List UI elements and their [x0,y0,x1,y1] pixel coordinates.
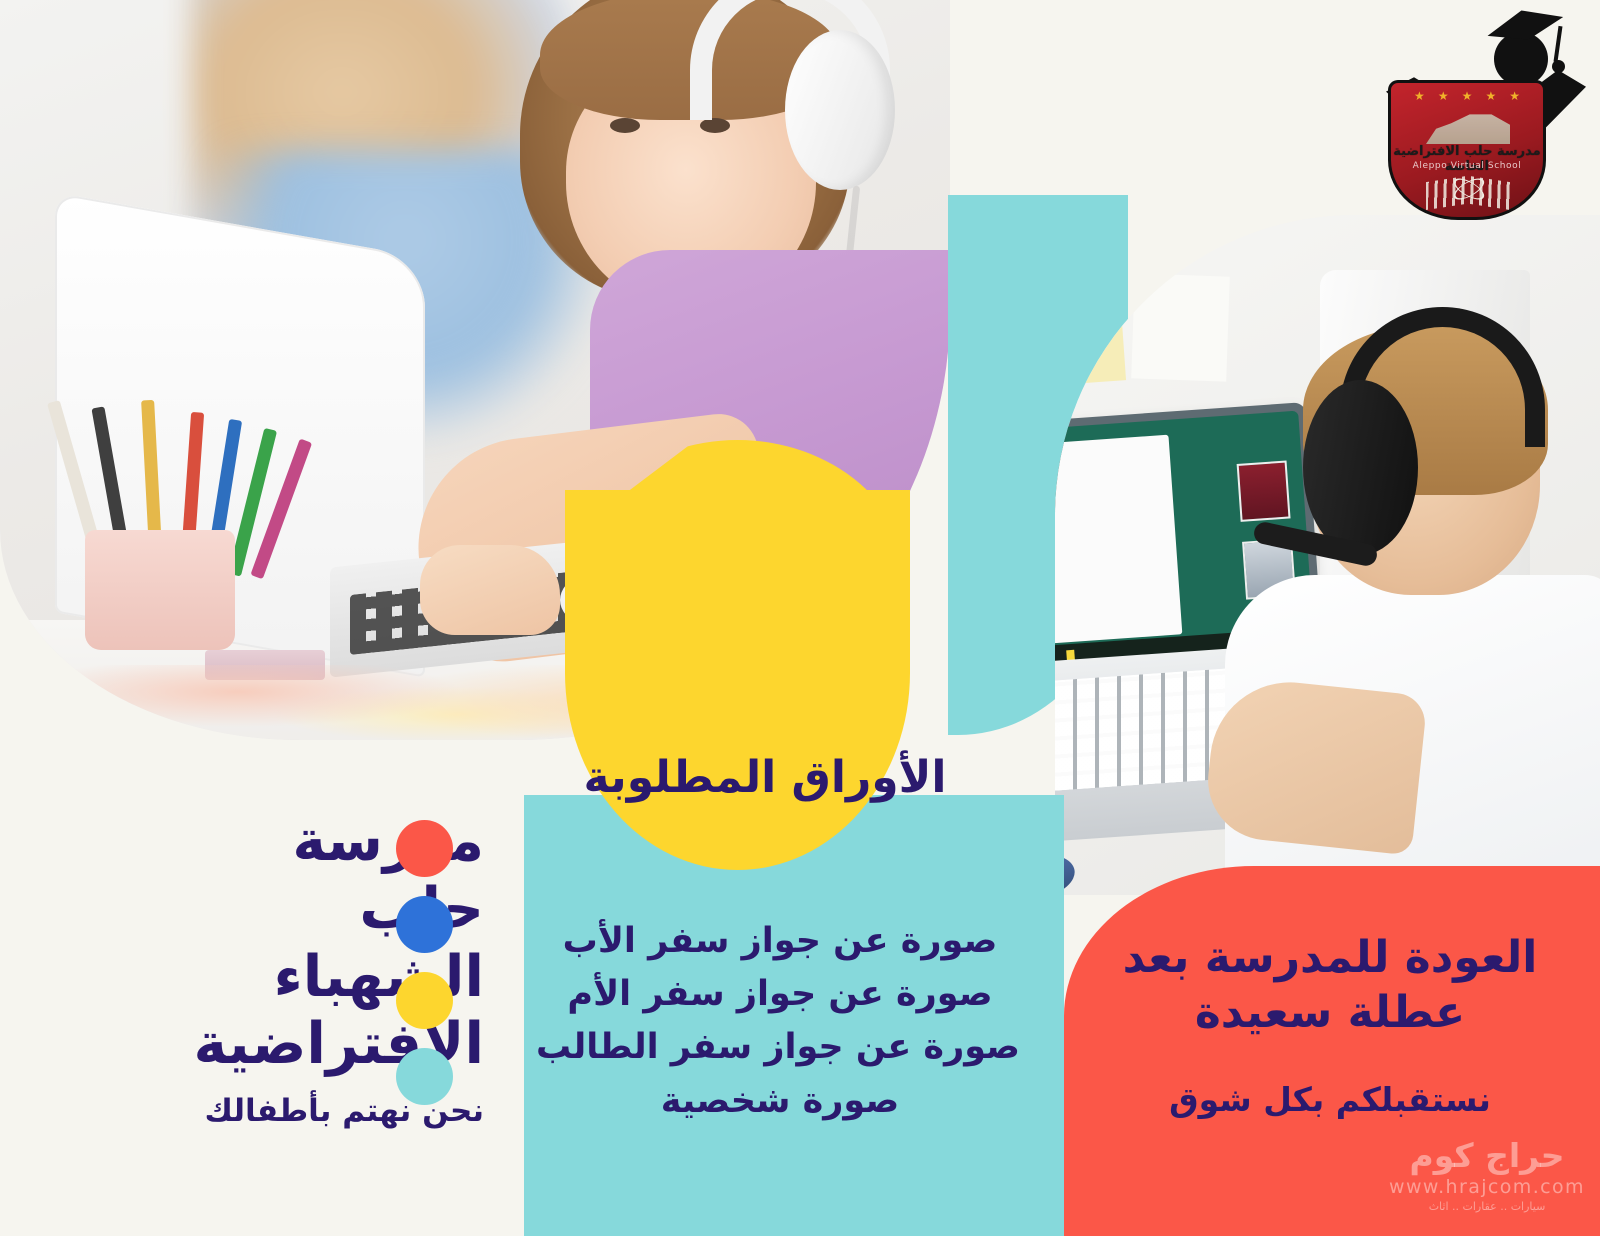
welcome-title-line-2: عطلة سعيدة [1080,985,1580,1040]
school-logo: ★ ★ ★ ★ ★ مدرسة حلب الافتراضية الخاصة Al… [1352,4,1588,220]
girl-hand-on-keyboard [420,545,560,635]
girl-eye-left [610,118,640,133]
documents-list: صورة عن جواز سفر الأب صورة عن جواز سفر ا… [540,915,1020,1128]
list-item: صورة عن جواز سفر الطالب [540,1021,1020,1074]
pencil-cup [85,530,235,650]
star-icon: ★ [1414,90,1425,102]
screen-video-thumb [1236,460,1291,522]
cap-tassel-ball-icon [1552,60,1565,73]
boy-arm [1202,674,1428,855]
poster-canvas: ★ ★ ★ ★ ★ مدرسة حلب الافتراضية الخاصة Al… [0,0,1600,1236]
list-item: صورة عن جواز سفر الأب [540,915,1020,968]
logo-stars: ★ ★ ★ ★ ★ [1414,90,1520,102]
star-icon: ★ [1462,90,1473,102]
dot-teal-icon [396,1048,453,1105]
red-welcome-panel [1064,866,1600,1236]
screen-document [1055,434,1182,645]
star-icon: ★ [1509,90,1520,102]
welcome-title: العودة للمدرسة بعد عطلة سعيدة [1080,930,1580,1040]
sticky-note-yellow [1055,290,1126,385]
dot-blue-icon [396,896,453,953]
dot-red-icon [396,820,453,877]
welcome-subtitle: نستقبلكم بكل شوق [1080,1080,1580,1119]
dot-yellow-icon [396,972,453,1029]
cap-tassel-icon [1554,26,1563,62]
photo-boy-at-laptop [1055,215,1600,895]
star-icon: ★ [1438,90,1449,102]
brand-color-dots [396,820,453,1105]
headset-earcup [1303,380,1418,555]
logo-name-english: Aleppo Virtual School [1392,161,1542,171]
graduate-head-icon [1494,32,1548,86]
sticky-note-white [1131,273,1230,381]
documents-title: الأوراق المطلوبة [545,752,985,803]
headphone-earcup [785,30,895,190]
star-icon: ★ [1485,90,1496,102]
welcome-title-line-1: العودة للمدرسة بعد [1080,930,1580,985]
list-item: صورة عن جواز سفر الأم [540,968,1020,1021]
girl-eye-right [700,118,730,133]
yellow-circle-badge [565,490,910,870]
list-item: صورة شخصية [540,1075,1020,1128]
